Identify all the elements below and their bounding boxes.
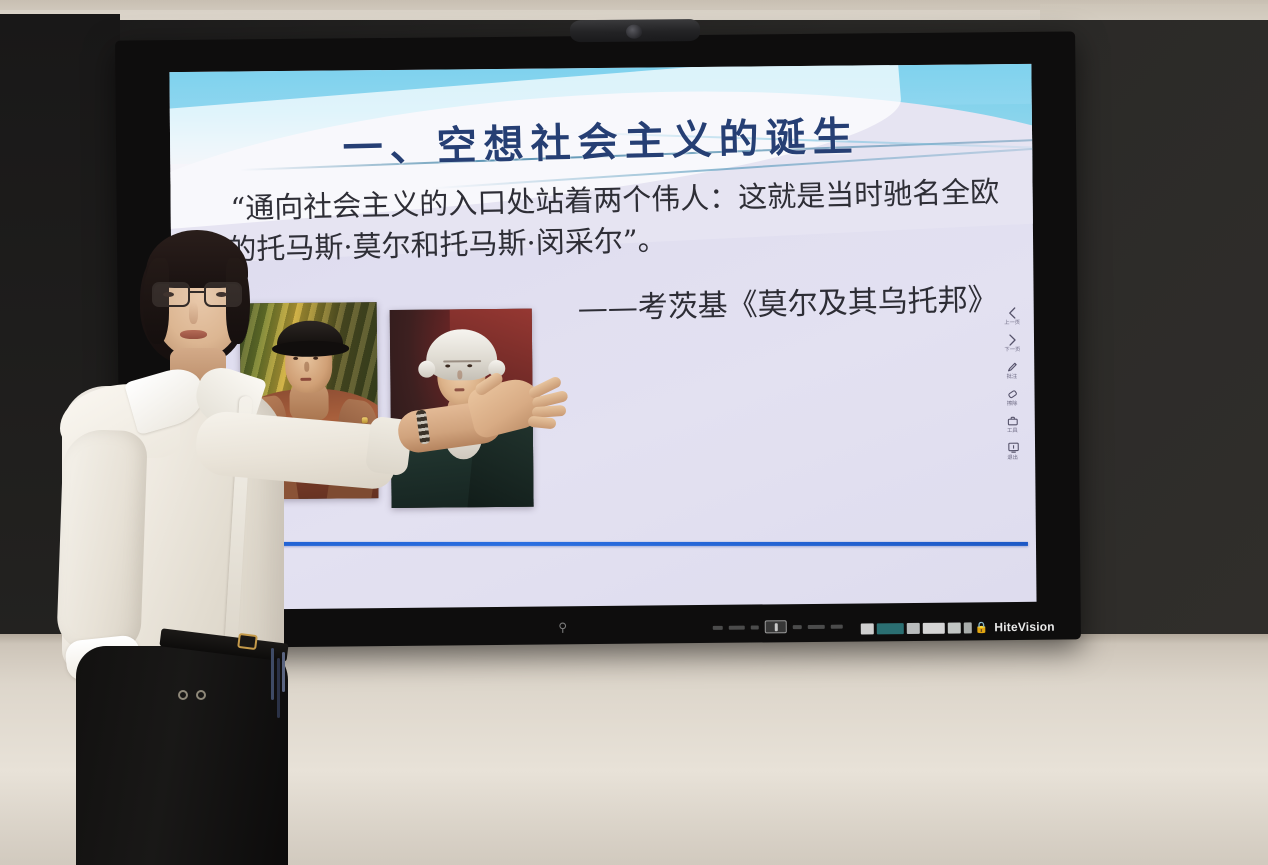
cert-label-5 bbox=[948, 622, 961, 633]
presenter-trouser-eyelet bbox=[196, 690, 206, 700]
webcam-icon bbox=[570, 19, 700, 42]
keychain-strand bbox=[282, 652, 285, 692]
classroom-scene: 一、空想社会主义的诞生 “通向社会主义的入口处站着两个伟人：这就是当时驰名全欧 … bbox=[0, 0, 1268, 865]
chevron-right-icon bbox=[1007, 333, 1016, 346]
eyeglass-lens-left bbox=[152, 282, 190, 307]
cert-label-6 bbox=[964, 622, 972, 633]
keychain-strand bbox=[277, 658, 280, 718]
cert-label-3 bbox=[907, 622, 920, 633]
toolbar-item-next-page[interactable]: 下一页 bbox=[995, 333, 1029, 353]
bezel-key[interactable] bbox=[751, 625, 759, 629]
presenter-arm-left bbox=[56, 429, 148, 654]
toolbar-item-label: 下一页 bbox=[1004, 347, 1020, 353]
bezel-key[interactable] bbox=[729, 625, 745, 629]
bezel-key[interactable] bbox=[713, 625, 723, 629]
exit-icon bbox=[1006, 441, 1019, 454]
cert-label-2 bbox=[877, 623, 904, 634]
webcam-lens-icon bbox=[626, 25, 642, 39]
toolbar-item-erase[interactable]: 擦除 bbox=[995, 387, 1029, 407]
bezel-key[interactable] bbox=[793, 625, 802, 629]
whiteboard-toolbar[interactable]: 上一页 下一页 批注 bbox=[994, 302, 1032, 465]
portrait-mouth bbox=[454, 388, 464, 391]
toolbox-icon bbox=[1007, 414, 1019, 427]
chevron-left-icon bbox=[1007, 306, 1016, 319]
eyeglass-bridge bbox=[190, 291, 205, 293]
portrait-nose bbox=[457, 371, 462, 380]
presenter-belt-buckle bbox=[237, 633, 258, 650]
presenter-nose bbox=[189, 302, 198, 324]
cert-label-1 bbox=[861, 623, 874, 634]
toolbar-item-label: 退出 bbox=[1008, 455, 1019, 461]
toolbar-item-label: 上一页 bbox=[1004, 320, 1020, 326]
toolbar-item-exit[interactable]: 退出 bbox=[996, 441, 1030, 461]
brand-name: HiteVision bbox=[994, 620, 1055, 635]
eyeglasses-icon bbox=[150, 282, 246, 308]
power-icon[interactable] bbox=[765, 620, 787, 633]
usb-icon: ⚲ bbox=[557, 620, 569, 634]
eyeglass-lens-right bbox=[204, 282, 242, 307]
presenter-trouser-eyelet bbox=[178, 690, 188, 700]
presenter-keychain bbox=[268, 648, 286, 734]
eraser-icon bbox=[1006, 387, 1018, 400]
toolbar-item-annotate[interactable]: 批注 bbox=[995, 360, 1029, 380]
presenter-mouth bbox=[180, 330, 207, 339]
lock-icon: 🔒 bbox=[975, 621, 989, 634]
brand-logo-area: 🔒 HiteVision bbox=[861, 620, 1055, 636]
bezel-key[interactable] bbox=[831, 624, 843, 628]
presenter bbox=[0, 0, 420, 865]
toolbar-item-tools[interactable]: 工具 bbox=[996, 414, 1030, 434]
toolbar-item-label: 批注 bbox=[1007, 374, 1018, 380]
pen-icon bbox=[1006, 360, 1018, 373]
toolbar-item-label: 擦除 bbox=[1007, 401, 1018, 407]
bezel-control-keys[interactable] bbox=[713, 619, 873, 634]
presenter-trousers bbox=[76, 646, 288, 865]
keychain-strand bbox=[271, 648, 274, 700]
toolbar-item-label: 工具 bbox=[1008, 428, 1019, 434]
toolbar-item-prev-page[interactable]: 上一页 bbox=[995, 306, 1029, 326]
cert-label-4 bbox=[923, 622, 945, 633]
bezel-key[interactable] bbox=[808, 624, 825, 628]
